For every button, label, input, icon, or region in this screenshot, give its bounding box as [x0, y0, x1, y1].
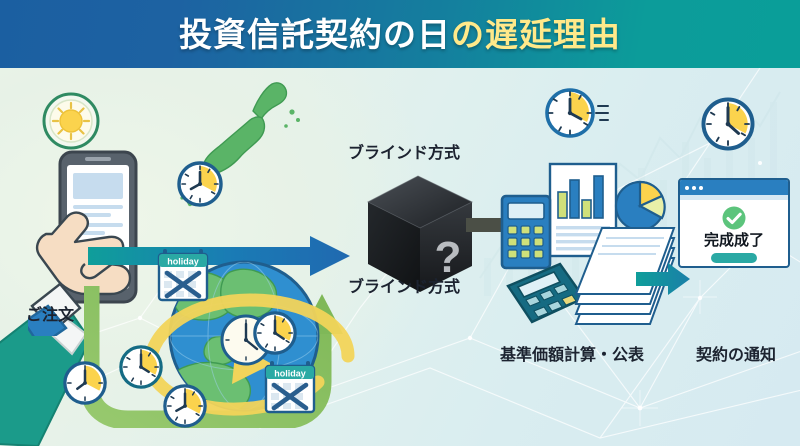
step-label-blind-bottom: ブラインド方式: [348, 280, 460, 296]
scene: ご注文: [0, 68, 800, 446]
clock-icon: [176, 160, 224, 208]
sun-clock-icon: [40, 90, 102, 152]
result-confirm-button[interactable]: [711, 253, 757, 263]
header-banner: 投資信託契約の日の遅延理由: [0, 0, 800, 68]
calendar-label: holiday: [167, 256, 199, 266]
check-circle-icon: [721, 205, 747, 231]
page-title-plain: 投資信託契約の日: [179, 16, 451, 53]
page-title: 投資信託契約の日の遅延理由: [179, 18, 621, 51]
clock-icon: [700, 96, 756, 152]
step-label-order: ご注文: [26, 308, 74, 324]
infographic-page: 投資信託契約の日の遅延理由: [0, 0, 800, 446]
holiday-calendar-icon: holiday: [155, 246, 211, 304]
window-dot-icon: [699, 186, 703, 190]
clock-icon: [62, 360, 108, 406]
browser-titlebar: [680, 180, 788, 195]
clock-icon: [252, 310, 298, 356]
clock-icon: [118, 344, 164, 390]
holiday-calendar-icon: holiday: [262, 358, 318, 416]
clock-icon: [162, 383, 208, 429]
question-mark: ?: [435, 233, 462, 282]
step-label-notice: 契約の通知: [696, 348, 776, 364]
result-status-text: 完成成了: [704, 233, 764, 248]
calculator-report-icon: [498, 148, 678, 338]
window-dot-icon: [685, 186, 689, 190]
window-dot-icon: [692, 186, 696, 190]
page-title-accent: の遅延理由: [451, 16, 621, 53]
browser-window-icon: 完成成了: [678, 178, 790, 268]
calendar-label: holiday: [274, 368, 306, 378]
step-label-blind-top: ブラインド方式: [348, 146, 460, 162]
clock-icon: [544, 84, 610, 142]
step-label-nav-calc: 基準価額計算・公表: [500, 348, 644, 364]
